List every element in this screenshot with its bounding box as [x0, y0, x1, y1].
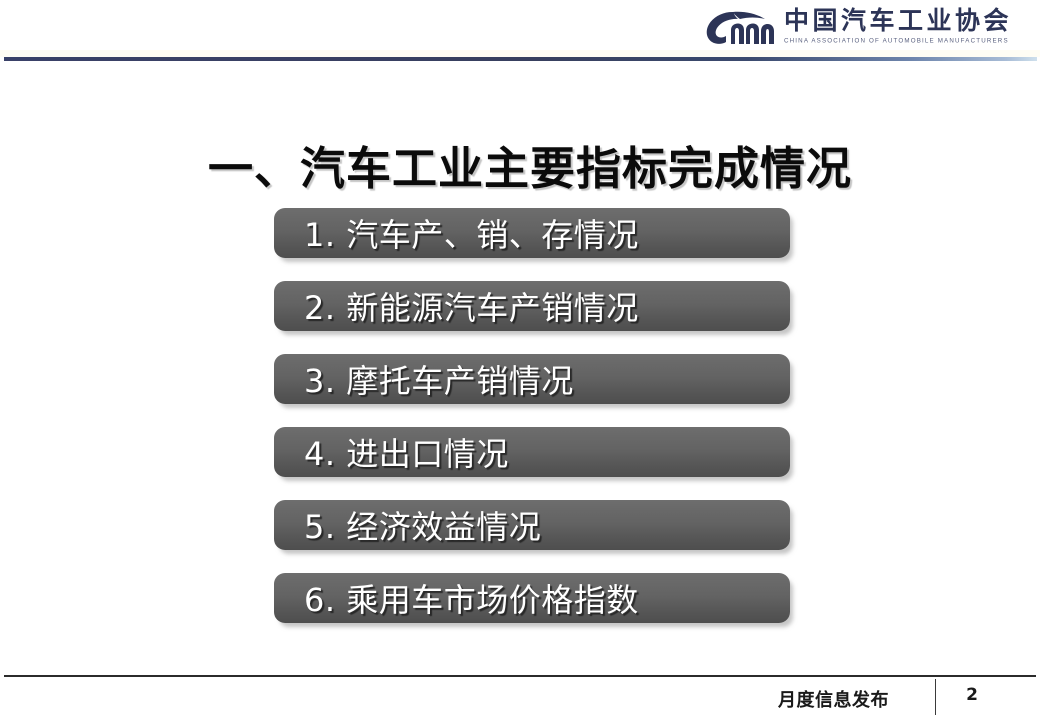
- footer-divider-rule: [4, 675, 1036, 677]
- page-number: 2: [955, 685, 989, 705]
- slide-root: 中国汽车工业协会 CHINA ASSOCIATION OF AUTOMOBILE…: [0, 0, 1040, 720]
- agenda-item-3[interactable]: 3. 摩托车产销情况: [274, 354, 790, 404]
- agenda-item-label: 3. 摩托车产销情况: [274, 356, 574, 402]
- caam-logo-mark-icon: [703, 9, 777, 47]
- organization-name-cn: 中国汽车工业协会: [784, 8, 1012, 34]
- agenda-item-6[interactable]: 6. 乘用车市场价格指数: [274, 573, 790, 623]
- agenda-item-1[interactable]: 1. 汽车产、销、存情况: [274, 208, 790, 258]
- agenda-item-4[interactable]: 4. 进出口情况: [274, 427, 790, 477]
- caam-logo: 中国汽车工业协会 CHINA ASSOCIATION OF AUTOMOBILE…: [703, 7, 1012, 51]
- agenda-item-5[interactable]: 5. 经济效益情况: [274, 500, 790, 550]
- header-accent-band: [0, 50, 1040, 57]
- caam-logo-text: 中国汽车工业协会 CHINA ASSOCIATION OF AUTOMOBILE…: [784, 7, 1012, 45]
- agenda-item-label: 1. 汽车产、销、存情况: [274, 210, 639, 256]
- agenda-item-label: 2. 新能源汽车产销情况: [274, 283, 639, 329]
- agenda-item-label: 5. 经济效益情况: [274, 502, 541, 548]
- organization-name-en: CHINA ASSOCIATION OF AUTOMOBILE MANUFACT…: [784, 37, 1009, 45]
- agenda-item-2[interactable]: 2. 新能源汽车产销情况: [274, 281, 790, 331]
- slide-footer: 月度信息发布 2: [0, 675, 1040, 720]
- page-title: 一、汽车工业主要指标完成情况: [208, 132, 852, 197]
- agenda-list: 1. 汽车产、销、存情况 2. 新能源汽车产销情况 3. 摩托车产销情况 4. …: [274, 208, 790, 623]
- footer-label: 月度信息发布: [778, 686, 889, 712]
- agenda-item-label: 4. 进出口情况: [274, 429, 509, 475]
- footer-vertical-divider: [935, 679, 936, 715]
- header-divider-rule: [4, 57, 1037, 61]
- agenda-item-label: 6. 乘用车市场价格指数: [274, 575, 639, 621]
- slide-header: 中国汽车工业协会 CHINA ASSOCIATION OF AUTOMOBILE…: [0, 0, 1040, 58]
